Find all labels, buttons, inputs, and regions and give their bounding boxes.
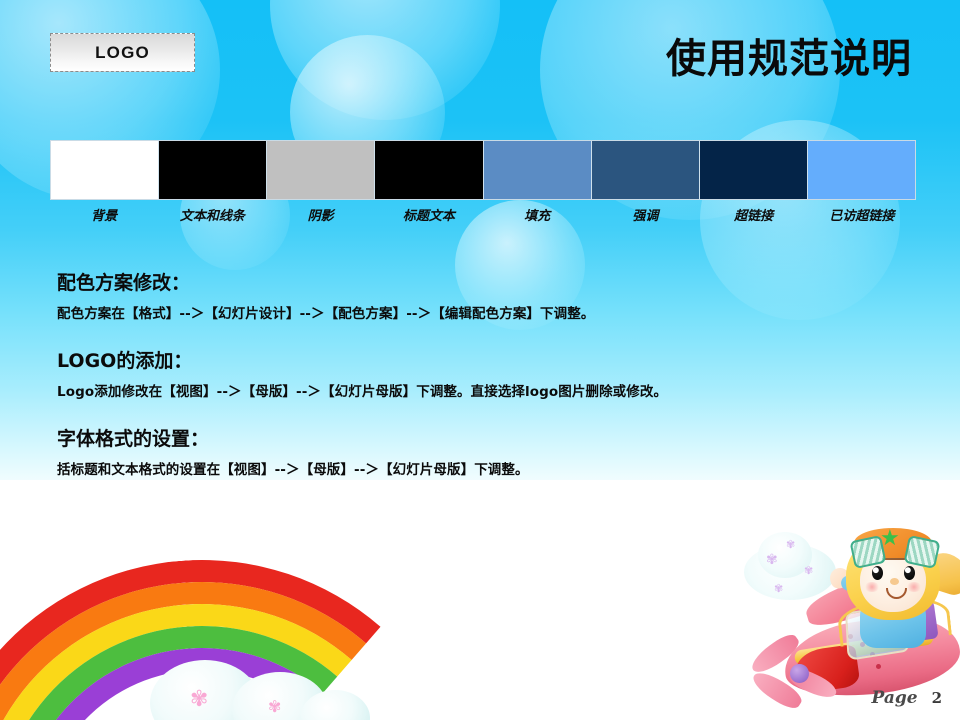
character-cheek-right [906, 582, 922, 592]
page-number: 2 [932, 689, 942, 707]
character-nose [890, 578, 899, 585]
section-body: Logo添加修改在【视图】--＞【母版】--＞【幻灯片母版】下调整。直接选择lo… [57, 380, 917, 400]
cloud-decor [758, 532, 812, 578]
page-footer: Page 2 [872, 688, 942, 708]
swatch-fill[interactable] [484, 141, 592, 199]
color-scheme-labels: 背景 文本和线条 阴影 标题文本 填充 强调 超链接 已访超链接 [50, 205, 916, 227]
section-heading: 字体格式的设置： [57, 424, 917, 451]
swatch-label: 强调 [591, 205, 699, 227]
instruction-section: 字体格式的设置： 括标题和文本格式的设置在【视图】--＞【母版】--＞【幻灯片母… [57, 424, 917, 478]
swatch-title-text[interactable] [375, 141, 483, 199]
swatch-followed-hyperlink[interactable] [808, 141, 915, 199]
character-eye-right [904, 566, 915, 580]
swatch-text-lines[interactable] [159, 141, 267, 199]
swatch-hyperlink[interactable] [700, 141, 808, 199]
instructions-area: 配色方案修改： 配色方案在【格式】--＞【幻灯片设计】--＞【配色方案】--＞【… [57, 268, 917, 478]
plane-rivet [876, 664, 881, 669]
logo-placeholder[interactable]: LOGO [50, 33, 195, 72]
swatch-label: 文本和线条 [158, 205, 266, 227]
page-title: 使用规范说明 [666, 26, 912, 84]
section-heading: LOGO的添加： [57, 346, 917, 373]
propeller-hub [790, 664, 809, 683]
swatch-label: 背景 [50, 205, 158, 227]
swatch-shadow[interactable] [267, 141, 375, 199]
swatch-label: 填充 [483, 205, 591, 227]
swatch-label: 标题文本 [375, 205, 483, 227]
color-scheme-swatches [50, 140, 916, 200]
section-heading: 配色方案修改： [57, 268, 917, 295]
swatch-label: 超链接 [700, 205, 808, 227]
character-eye-left [872, 566, 883, 580]
logo-label: LOGO [95, 43, 150, 63]
section-body: 括标题和文本格式的设置在【视图】--＞【母版】--＞【幻灯片母版】下调整。 [57, 458, 917, 478]
swatch-background[interactable] [51, 141, 159, 199]
swatch-label: 阴影 [267, 205, 375, 227]
instruction-section: LOGO的添加： Logo添加修改在【视图】--＞【母版】--＞【幻灯片母版】下… [57, 346, 917, 400]
section-body: 配色方案在【格式】--＞【幻灯片设计】--＞【配色方案】--＞【编辑配色方案】下… [57, 302, 917, 322]
slide-canvas: LOGO 使用规范说明 背景 文本和线条 阴影 标题文本 填充 强调 超链接 已… [0, 0, 960, 720]
swatch-accent[interactable] [592, 141, 700, 199]
swatch-label: 已访超链接 [808, 205, 916, 227]
instruction-section: 配色方案修改： 配色方案在【格式】--＞【幻灯片设计】--＞【配色方案】--＞【… [57, 268, 917, 322]
page-label: Page [872, 688, 918, 708]
character-cheek-left [864, 582, 880, 592]
